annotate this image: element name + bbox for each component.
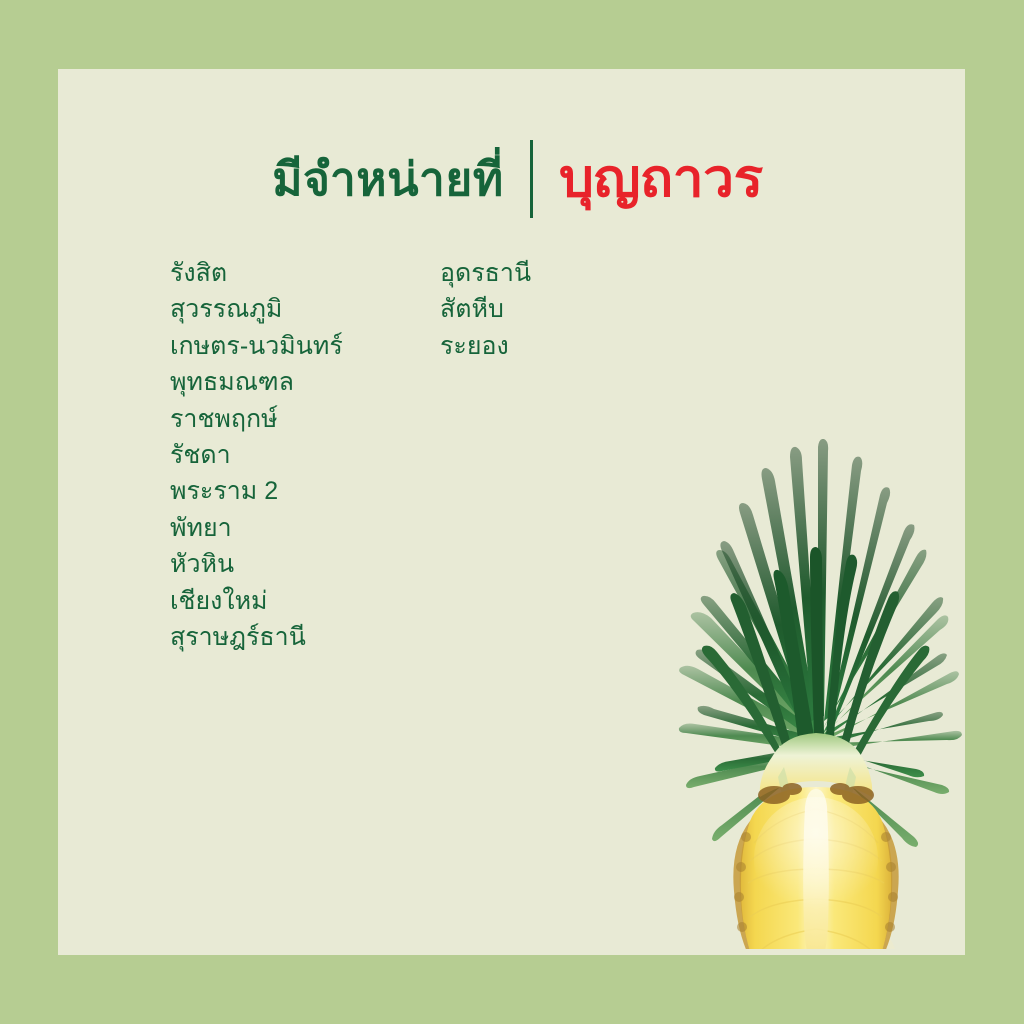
list-item: เชียงใหม่: [170, 583, 440, 619]
poster-canvas: มีจำหน่ายที่ บุญถาวร รังสิต สุวรรณภูมิ เ…: [0, 0, 1024, 1024]
list-item: พระราม 2: [170, 473, 440, 509]
page-title: มีจำหน่ายที่: [272, 156, 503, 202]
content-panel: มีจำหน่ายที่ บุญถาวร รังสิต สุวรรณภูมิ เ…: [58, 69, 965, 955]
list-item: อุดรธานี: [440, 255, 720, 291]
branch-column-secondary: อุดรธานี สัตหีบ ระยอง: [440, 255, 720, 364]
list-item: เกษตร-นวมินทร์: [170, 328, 440, 364]
list-item: ระยอง: [440, 328, 720, 364]
list-item: สุราษฎร์ธานี: [170, 619, 440, 655]
branch-list: รังสิต สุวรรณภูมิ เกษตร-นวมินทร์ พุทธมณฑ…: [170, 255, 720, 655]
list-item: พุทธมณฑล: [170, 364, 440, 400]
header-divider: [530, 140, 533, 218]
list-item: ราชพฤกษ์: [170, 401, 440, 437]
brand-logo: บุญถาวร: [559, 153, 763, 205]
list-item: สัตหีบ: [440, 291, 720, 327]
list-item: สุวรรณภูมิ: [170, 291, 440, 327]
list-item: รังสิต: [170, 255, 440, 291]
header: มีจำหน่ายที่ บุญถาวร: [58, 129, 965, 229]
pineapple-image: [666, 439, 965, 949]
list-item: หัวหิน: [170, 546, 440, 582]
branch-column-primary: รังสิต สุวรรณภูมิ เกษตร-นวมินทร์ พุทธมณฑ…: [170, 255, 440, 655]
list-item: รัชดา: [170, 437, 440, 473]
list-item: พัทยา: [170, 510, 440, 546]
